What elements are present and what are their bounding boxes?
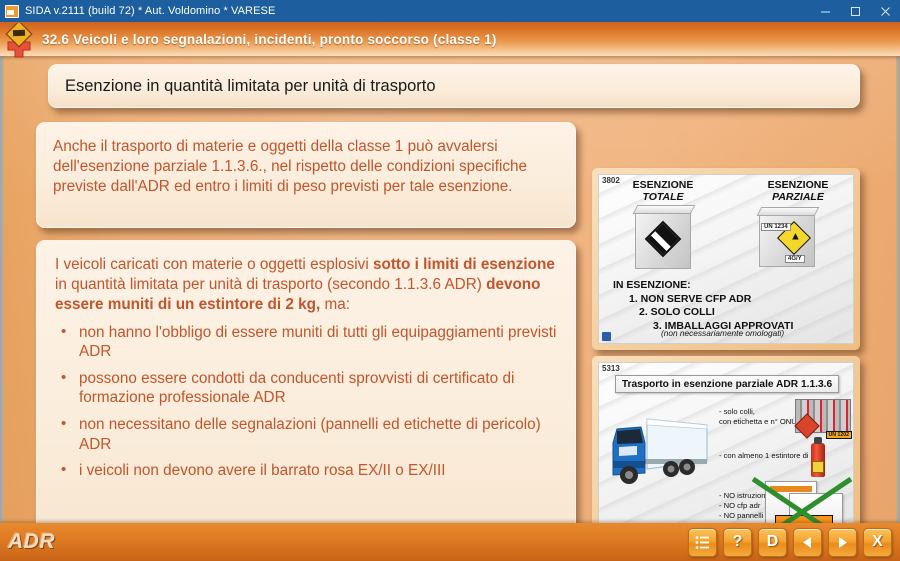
publisher-logo-icon [602, 332, 611, 341]
intro-text: Anche il trasporto di materie e oggetti … [53, 137, 559, 197]
exemption-list-title: IN ESENZIONE: [613, 279, 793, 293]
slide-title: Esenzione in quantità limitata per unità… [65, 77, 436, 96]
slide-stage: Esenzione in quantità limitata per unità… [0, 56, 900, 523]
bullet-item: i veicoli non devono avere il barrato ro… [55, 461, 559, 481]
lead-run: ma: [320, 296, 350, 313]
next-button[interactable] [828, 528, 857, 557]
lesson-header: 32.6 Veicoli e loro segnalazioni, incide… [0, 22, 900, 56]
help-button[interactable]: ? [723, 528, 752, 557]
total-exemption-heading: ESENZIONE TOTALE [617, 180, 709, 204]
partial-exemption-line1: ESENZIONE [768, 179, 829, 191]
index-button[interactable] [688, 528, 717, 557]
transport-diagram-title: Trasporto in esenzione parziale ADR 1.1.… [615, 375, 839, 393]
exemption-conditions-list: IN ESENZIONE: 1. NON SERVE CFP ADR 2. SO… [613, 279, 793, 334]
intro-panel: Anche il trasporto di materie e oggetti … [36, 122, 576, 228]
window-title: SIDA v.2111 (build 72) * Aut. Voldomino … [25, 5, 275, 17]
total-exemption-line2: TOTALE [617, 192, 709, 204]
total-exemption-line1: ESENZIONE [633, 179, 694, 191]
partial-exemption-line2: PARZIALE [749, 192, 847, 204]
stage-right-edge [896, 56, 900, 523]
window-controls [810, 0, 900, 22]
extinguisher-label [812, 461, 824, 473]
exemption-list-item: 2. SOLO COLLI [613, 306, 793, 320]
previous-button[interactable] [793, 528, 822, 557]
exemption-diagram-image: 3802 ESENZIONE TOTALE ESENZIONE PARZIALE… [598, 174, 854, 344]
image-id-bottom: 5313 [602, 364, 620, 373]
bullet-item: non hanno l'obbligo di essere muniti di … [55, 323, 559, 362]
slide-title-panel: Esenzione in quantità limitata per unità… [48, 64, 860, 108]
adr-first-aid-icon [4, 23, 38, 61]
minimize-button[interactable] [810, 0, 840, 22]
transport-note-extinguisher: - con almeno 1 estintore di 2 kg [719, 451, 825, 461]
hazard-label-icon [794, 413, 819, 438]
maximize-button[interactable] [840, 0, 870, 22]
lesson-title: 32.6 Veicoli e loro segnalazioni, incide… [42, 32, 497, 47]
un-number-label: UN 1202 [826, 431, 852, 439]
truck-illustration [607, 403, 715, 489]
exemption-diagram-panel[interactable]: 3802 ESENZIONE TOTALE ESENZIONE PARZIALE… [592, 168, 860, 350]
close-button[interactable] [870, 0, 900, 22]
fire-extinguisher-icon [811, 443, 825, 477]
stage-left-edge [0, 56, 4, 523]
app-icon [5, 5, 19, 18]
main-content-panel: I veicoli caricati con materie o oggetti… [36, 240, 576, 561]
packaging-code-label: 4G/Y [785, 255, 805, 263]
exit-button[interactable]: X [863, 528, 892, 557]
window-title-bar: SIDA v.2111 (build 72) * Aut. Voldomino … [0, 0, 900, 22]
bullet-item: non necessitano delle segnalazioni (pann… [55, 415, 559, 454]
exemption-list-item: 1. NON SERVE CFP ADR [613, 293, 793, 307]
dictionary-button[interactable]: D [758, 528, 787, 557]
flame-glyph: ▲ [790, 231, 801, 243]
box-total-exemption [635, 211, 691, 269]
box-lid [757, 207, 820, 216]
lead-run: I veicoli caricati con materie o oggetti… [55, 256, 373, 273]
lead-emphasis: sotto i limiti di esenzione [373, 256, 555, 273]
un-number-label: UN 1234 [761, 223, 791, 231]
footer-toolbar: ADR ? D X [0, 523, 900, 561]
transport-diagram-panel[interactable]: 5313 Trasporto in esenzione parziale ADR… [592, 356, 860, 542]
course-label: ADR [8, 530, 55, 554]
bullet-item: possono essere condotti da conducenti sp… [55, 369, 559, 408]
lead-run: in quantità limitata per unità di traspo… [55, 276, 486, 293]
transport-note-packages: - solo colli, con etichetta e n° ONU [719, 407, 797, 427]
box-lid [633, 205, 696, 214]
pallet-illustration: UN 1202 [795, 399, 851, 433]
main-lead-text: I veicoli caricati con materie o oggetti… [55, 255, 559, 315]
exemption-note: (non necessariamente omologati) [661, 328, 784, 338]
footer-button-group: ? D X [688, 528, 892, 557]
partial-exemption-heading: ESENZIONE PARZIALE [749, 180, 847, 204]
main-bullet-list: non hanno l'obbligo di essere muniti di … [55, 323, 559, 481]
transport-diagram-image: 5313 Trasporto in esenzione parziale ADR… [598, 362, 854, 536]
blank-diamond-icon [645, 221, 682, 258]
